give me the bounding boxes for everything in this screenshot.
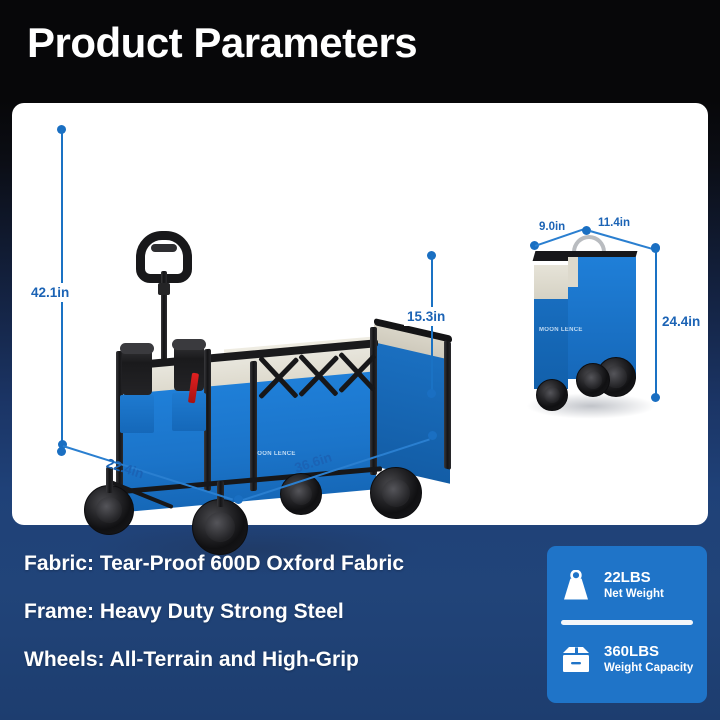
brand-logo-folded-cart: MOON LENCE [539,327,583,333]
weight-icon [557,570,595,602]
product-image-card: MOON LENCE [12,103,708,525]
brand-logo-open-cart: MOON LENCE [252,451,296,457]
cart-side-fabric [374,342,450,484]
info-card-divider [561,620,693,625]
net-weight-caption: Net Weight [604,587,664,602]
weight-capacity-value: 360LBS [604,644,693,661]
spec-line-wheels: Wheels: All-Terrain and High-Grip [24,648,404,672]
wheel-front-mid [192,499,248,555]
dim-dot-length-end [428,431,437,440]
spec-line-fabric: Fabric: Tear-Proof 600D Oxford Fabric [24,552,404,576]
infographic-page: Product Parameters MOON LENCE [0,0,720,720]
cart-post-right [370,327,377,475]
box-icon [557,644,595,676]
dim-label-side: 15.3in [404,307,448,326]
weight-info-card: 22LBS Net Weight 360LBS Weight Capacity [547,546,707,703]
dim-line-folded-height [655,248,657,396]
header: Product Parameters [0,0,720,103]
net-weight-value: 22LBS [604,570,664,587]
dim-label-folded-depth: 9.0in [539,221,565,233]
dim-dot-folded-height-bottom [651,393,660,402]
net-weight-row: 22LBS Net Weight [557,558,697,614]
folded-wheel-front [536,379,568,411]
dim-label-height: 42.1in [28,283,72,302]
cart-post-far [444,340,451,470]
cup-holder-right [174,345,204,391]
net-weight-text: 22LBS Net Weight [604,570,664,602]
dim-label-folded-width: 11.4in [598,217,630,229]
weight-capacity-caption: Weight Capacity [604,661,693,676]
dim-dot-depth-end [234,495,243,504]
folded-wheel-mid [576,363,610,397]
open-cart-illustration: MOON LENCE [74,223,444,583]
dim-dot-side-bottom [427,389,436,398]
cup-holder-pouch-left [120,395,154,433]
spec-line-frame: Frame: Heavy Duty Strong Steel [24,600,404,624]
weight-capacity-text: 360LBS Weight Capacity [604,644,693,676]
weight-capacity-row: 360LBS Weight Capacity [557,632,697,688]
cart-handle-collar [158,283,170,295]
spec-list: Fabric: Tear-Proof 600D Oxford Fabric Fr… [24,552,404,696]
folded-cart-front-beige [568,257,578,287]
cart-post-joint [250,361,257,492]
folded-cart-side-beige [534,265,568,299]
dim-label-folded-height: 24.4in [662,314,700,329]
cup-holder-left [122,349,152,395]
wheel-rear-right [370,467,422,519]
page-title: Product Parameters [27,19,417,67]
